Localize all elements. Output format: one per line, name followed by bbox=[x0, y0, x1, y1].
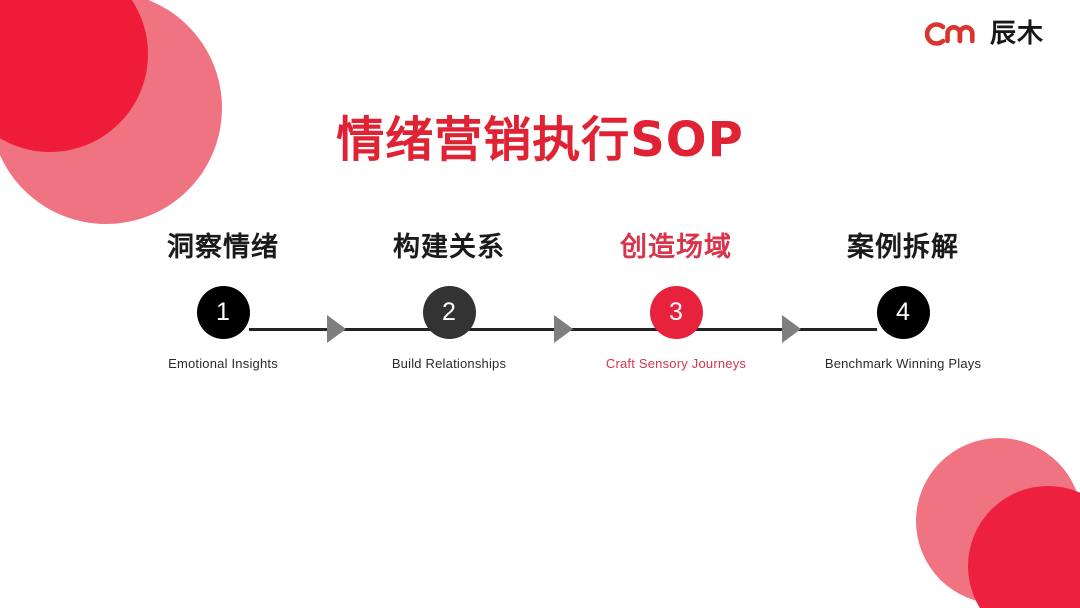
flow-step-1-badge-wrap: 1 bbox=[103, 285, 343, 339]
flow-step-2[interactable]: 构建关系 2 Build Relationships bbox=[329, 232, 569, 373]
flow-step-3[interactable]: 创造场域 3 Craft Sensory Journeys bbox=[556, 232, 796, 373]
flow-step-4-badge-wrap: 4 bbox=[783, 285, 1023, 339]
flow-step-1-title: 洞察情绪 bbox=[103, 232, 343, 264]
brand-logo: 辰木 bbox=[923, 14, 1044, 54]
flow-step-2-number-badge: 2 bbox=[423, 286, 476, 339]
flow-step-3-title: 创造场域 bbox=[556, 232, 796, 264]
flow-step-3-subtitle: Craft Sensory Journeys bbox=[556, 356, 796, 373]
flow-step-4-title: 案例拆解 bbox=[783, 232, 1023, 264]
flow-step-1-number-badge: 1 bbox=[197, 286, 250, 339]
flow-step-4-number-badge: 4 bbox=[877, 286, 930, 339]
flow-step-1-subtitle: Emotional Insights bbox=[103, 356, 343, 373]
flow-step-1[interactable]: 洞察情绪 1 Emotional Insights bbox=[103, 232, 343, 373]
flow-step-4-subtitle: Benchmark Winning Plays bbox=[783, 356, 1023, 373]
process-flow: 洞察情绪 1 Emotional Insights 构建关系 2 Build R… bbox=[0, 232, 1080, 412]
logo-wordmark: 辰木 bbox=[990, 21, 1044, 47]
flow-step-2-badge-wrap: 2 bbox=[329, 285, 569, 339]
flow-step-3-number-badge: 3 bbox=[650, 286, 703, 339]
flow-step-3-badge-wrap: 3 bbox=[556, 285, 796, 339]
flow-step-2-subtitle: Build Relationships bbox=[329, 356, 569, 373]
decorative-circle-bottom-right-front bbox=[968, 486, 1080, 608]
flow-step-4[interactable]: 案例拆解 4 Benchmark Winning Plays bbox=[783, 232, 1023, 373]
flow-step-2-title: 构建关系 bbox=[329, 232, 569, 264]
page-title: 情绪营销执行SOP bbox=[0, 112, 1080, 170]
decorative-circle-bottom-right-back bbox=[916, 438, 1080, 604]
cm-monogram-icon bbox=[923, 19, 981, 49]
slide-canvas: 辰木 情绪营销执行SOP 洞察情绪 1 Emotional Insights 构… bbox=[0, 0, 1080, 608]
